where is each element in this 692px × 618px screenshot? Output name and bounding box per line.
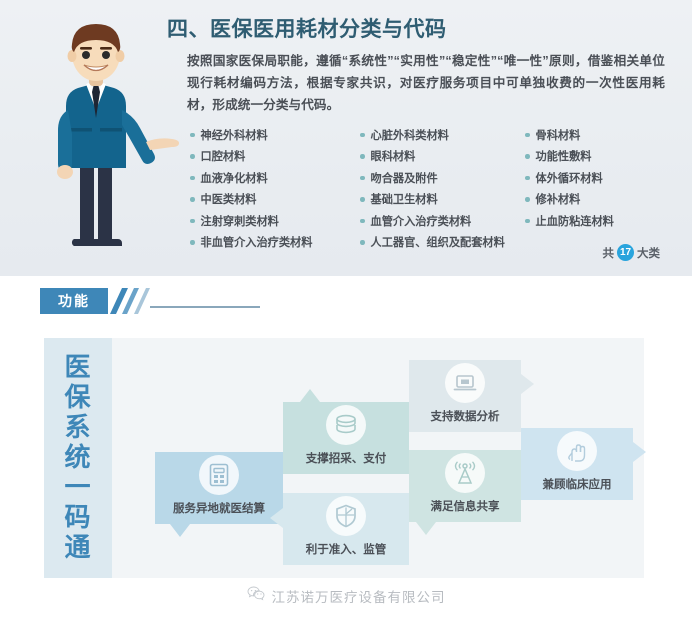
list-item-label: 功能性敷料 — [536, 148, 592, 164]
card-notch-down — [170, 524, 190, 537]
bullet-dot-icon — [525, 219, 530, 224]
page-title: 四、医保医用耗材分类与代码 — [167, 13, 447, 43]
list-item-label: 心脏外科类材料 — [371, 127, 449, 143]
company-name: 江苏诺万医疗设备有限公司 — [272, 586, 446, 606]
diagram-card-label: 支持数据分析 — [431, 408, 500, 424]
header-rule — [150, 306, 260, 308]
diagram-card-data-analysis[interactable]: 支持数据分析 — [409, 360, 521, 432]
list-item: 神经外科材料 — [190, 124, 360, 146]
left-title-char: 医 — [44, 352, 112, 382]
bullet-dot-icon — [525, 154, 530, 159]
card-notch-right — [633, 442, 646, 462]
list-item: 体外循环材料 — [525, 167, 665, 189]
list-item-label: 骨科材料 — [536, 127, 581, 143]
left-title-char: 统 — [44, 442, 112, 472]
list-item: 基础卫生材料 — [360, 189, 525, 211]
list-item-label: 非血管介入治疗类材料 — [201, 234, 313, 250]
left-title-char: 保 — [44, 382, 112, 412]
list-item: 注射穿刺类材料 — [190, 210, 360, 232]
total-suffix-label: 大类 — [637, 245, 660, 261]
diagonal-stripes-decor — [108, 288, 152, 314]
bullet-dot-icon — [525, 176, 530, 181]
list-item-label: 血管介入治疗类材料 — [371, 213, 472, 229]
diagram-card-label: 支撑招采、支付 — [306, 450, 387, 466]
list-item-label: 止血防粘连材料 — [536, 213, 614, 229]
bullet-dot-icon — [190, 240, 195, 245]
top-section: 四、医保医用耗材分类与代码 按照国家医保局职能，遵循“系统性”“实用性”“稳定性… — [0, 0, 692, 276]
diagram-card-label: 服务异地就医结算 — [173, 500, 265, 516]
left-title-char: 通 — [44, 532, 112, 562]
left-title-char: 系 — [44, 412, 112, 442]
list-item-label: 人工器官、组织及配套材料 — [371, 234, 505, 250]
bullet-dot-icon — [190, 176, 195, 181]
total-count-value: 17 — [617, 244, 634, 261]
bullet-dot-icon — [360, 240, 365, 245]
list-item: 功能性敷料 — [525, 146, 665, 168]
bullet-dot-icon — [360, 133, 365, 138]
list-item-label: 中医类材料 — [201, 191, 257, 207]
list-item: 骨科材料 — [525, 124, 665, 146]
diagram-card-label: 满足信息共享 — [431, 498, 500, 514]
card-notch-right — [521, 374, 534, 394]
bullet-dot-icon — [190, 133, 195, 138]
intro-paragraph: 按照国家医保局职能，遵循“系统性”“实用性”“稳定性”“唯一性”原则，借鉴相关单… — [187, 50, 665, 116]
list-item-label: 吻合器及附件 — [371, 170, 438, 186]
list-item-label: 血液净化材料 — [201, 170, 268, 186]
broadcast-tower-icon — [445, 453, 485, 493]
list-item: 眼科材料 — [360, 146, 525, 168]
list-item: 血液净化材料 — [190, 167, 360, 189]
footer-watermark: 江苏诺万医疗设备有限公司 — [0, 583, 692, 609]
section-header: 功能 — [0, 288, 692, 322]
diagram-left-title: 医 保 系 统 一 码 通 — [44, 352, 112, 562]
list-item-label: 眼科材料 — [371, 148, 416, 164]
section-tab-function: 功能 — [40, 288, 108, 314]
material-category-list: 神经外科材料 心脏外科类材料 骨科材料 口腔材料 眼科材料 功能性敷料 血液净化… — [190, 124, 666, 253]
diagram-card-access-supervision[interactable]: 利于准入、监管 — [283, 493, 409, 565]
bullet-dot-icon — [190, 154, 195, 159]
bullet-dot-icon — [360, 176, 365, 181]
function-diagram: 医 保 系 统 一 码 通 服务异地就医结算 — [0, 330, 692, 585]
list-item: 止血防粘连材料 — [525, 210, 665, 232]
list-item-label: 注射穿刺类材料 — [201, 213, 279, 229]
bullet-dot-icon — [360, 219, 365, 224]
bullet-dot-icon — [360, 197, 365, 202]
section-tab-label: 功能 — [58, 291, 90, 311]
database-stack-icon — [326, 405, 366, 445]
bullet-dot-icon — [190, 219, 195, 224]
bullet-dot-icon — [525, 197, 530, 202]
diagram-card-label: 兼顾临床应用 — [543, 476, 612, 492]
card-notch-up — [300, 389, 320, 402]
list-item-label: 口腔材料 — [201, 148, 246, 164]
laptop-icon — [445, 363, 485, 403]
card-notch-left — [270, 508, 283, 528]
list-item-label: 体外循环材料 — [536, 170, 603, 186]
list-item: 心脏外科类材料 — [360, 124, 525, 146]
bullet-dot-icon — [190, 197, 195, 202]
list-item: 人工器官、组织及配套材料 — [360, 232, 525, 254]
diagram-card-label: 利于准入、监管 — [306, 541, 387, 557]
diagram-card-procurement-payment[interactable]: 支撑招采、支付 — [283, 402, 409, 474]
list-item: 中医类材料 — [190, 189, 360, 211]
list-item-label: 基础卫生材料 — [371, 191, 438, 207]
hand-care-icon — [557, 431, 597, 471]
shield-icon — [326, 496, 366, 536]
diagram-card-clinical-application[interactable]: 兼顾临床应用 — [521, 428, 633, 500]
total-prefix-label: 共 — [603, 245, 615, 261]
document-icon — [199, 455, 239, 495]
list-item: 修补材料 — [525, 189, 665, 211]
list-item: 吻合器及附件 — [360, 167, 525, 189]
wechat-icon — [247, 586, 265, 606]
list-item: 血管介入治疗类材料 — [360, 210, 525, 232]
list-item: 非血管介入治疗类材料 — [190, 232, 360, 254]
list-item-label: 修补材料 — [536, 191, 581, 207]
left-title-char: 码 — [44, 502, 112, 532]
businessman-illustration — [34, 14, 184, 266]
left-title-char: 一 — [44, 472, 112, 502]
diagram-card-service-settlement[interactable]: 服务异地就医结算 — [155, 452, 283, 524]
bullet-dot-icon — [525, 133, 530, 138]
card-notch-down — [416, 522, 436, 535]
diagram-card-information-sharing[interactable]: 满足信息共享 — [409, 450, 521, 522]
infographic-page: 四、医保医用耗材分类与代码 按照国家医保局职能，遵循“系统性”“实用性”“稳定性… — [0, 0, 692, 618]
list-item: 口腔材料 — [190, 146, 360, 168]
bullet-dot-icon — [360, 154, 365, 159]
total-category-badge: 共 17 大类 — [603, 244, 661, 261]
list-item-label: 神经外科材料 — [201, 127, 268, 143]
